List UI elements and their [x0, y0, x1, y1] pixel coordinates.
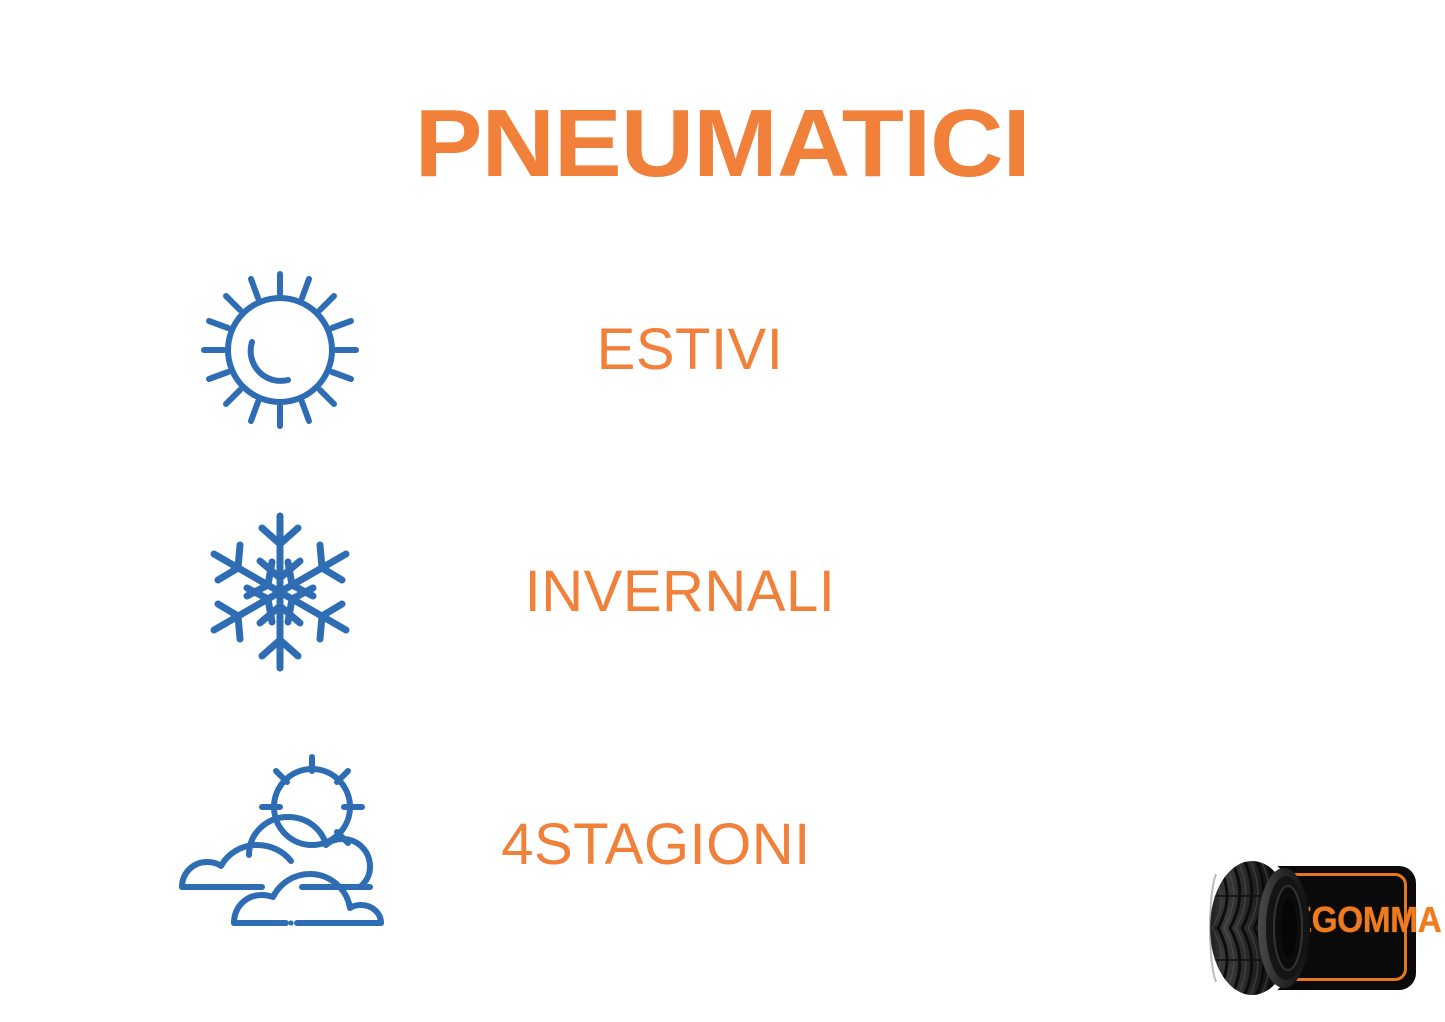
page-title: PNEUMATICI [0, 96, 1445, 192]
pneumatici-poster: PNEUMATICI [0, 0, 1445, 1022]
sun-icon [150, 240, 410, 460]
category-label-invernali: INVERNALI [410, 561, 950, 623]
snowflake-icon [150, 482, 410, 702]
category-label-4stagioni: 4STAGIONI [410, 814, 950, 876]
brand-logo[interactable]: REGOMMA [1196, 852, 1428, 1004]
category-row-invernali: INVERNALI [150, 482, 950, 702]
category-row-estivi: ESTIVI [150, 240, 950, 460]
tire-icon [1196, 852, 1321, 1004]
category-row-4stagioni: 4STAGIONI [150, 735, 950, 955]
category-label-estivi: ESTIVI [410, 319, 950, 381]
sun-behind-clouds-icon [150, 735, 410, 955]
